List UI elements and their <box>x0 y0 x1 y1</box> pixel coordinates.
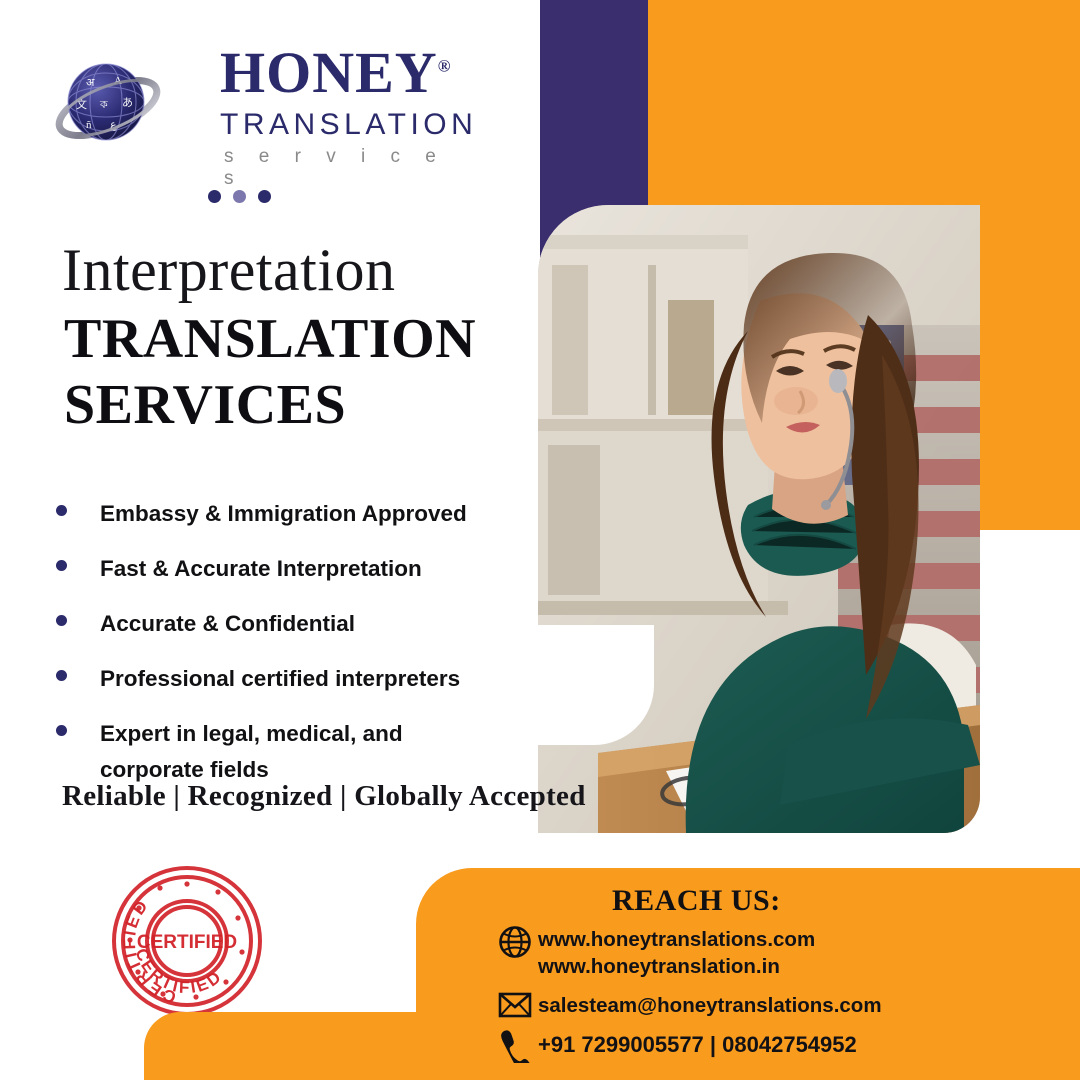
list-item: Accurate & Confidential <box>56 606 526 642</box>
list-item-label: Professional certified interpreters <box>100 661 460 697</box>
svg-text:अ: अ <box>86 77 95 89</box>
logo-name-main: HONEY <box>220 40 438 105</box>
logo-name-third: s e r v i c e s <box>220 146 477 190</box>
reach-panel-extension <box>144 1012 444 1080</box>
contact-row-email: salesteam@honeytranslations.com <box>492 991 1052 1019</box>
headline-main-line-2: SERVICES <box>64 372 476 438</box>
list-item-label: Expert in legal, medical, and corporate … <box>100 716 450 788</box>
bullet-dot-icon <box>56 560 67 571</box>
contact-website-text[interactable]: www.honeytranslations.com www.honeytrans… <box>538 925 815 981</box>
certified-stamp-icon: CERTIFIED CERTIFIED CERTIFIED <box>108 862 266 1020</box>
brand-logo: अ A 文 ক あ ñ ع HONEY® TRANSLATION s e r v… <box>52 44 472 174</box>
list-item: Professional certified interpreters <box>56 661 526 697</box>
photo-notch-cutout <box>538 625 654 745</box>
dot-1 <box>208 190 221 203</box>
tagline: Reliable | Recognized | Globally Accepte… <box>62 780 586 813</box>
dot-3 <box>258 190 271 203</box>
bullet-dot-icon <box>56 670 67 681</box>
list-item: Fast & Accurate Interpretation <box>56 551 526 587</box>
list-item-label: Accurate & Confidential <box>100 606 355 642</box>
list-item: Embassy & Immigration Approved <box>56 496 526 532</box>
decorative-dots <box>208 190 271 203</box>
dot-2 <box>233 190 246 203</box>
phone-icon <box>492 1029 538 1063</box>
website-line-2[interactable]: www.honeytranslation.in <box>538 953 815 980</box>
contact-list: www.honeytranslations.com www.honeytrans… <box>492 925 1052 1073</box>
svg-text:ক: ক <box>99 99 108 111</box>
website-line-1[interactable]: www.honeytranslations.com <box>538 926 815 953</box>
bullet-dot-icon <box>56 505 67 516</box>
feature-list: Embassy & Immigration Approved Fast & Ac… <box>56 496 526 807</box>
logo-name-second: TRANSLATION <box>220 108 477 142</box>
globe-languages-icon: अ A 文 ক あ ñ ع <box>52 56 164 156</box>
stamp-inner-text: CERTIFIED <box>137 932 237 953</box>
envelope-icon <box>492 991 538 1019</box>
contact-phone-text[interactable]: +91 7299005577 | 08042754952 <box>538 1029 857 1059</box>
contact-row-website: www.honeytranslations.com www.honeytrans… <box>492 925 1052 981</box>
headline-main-line-1: TRANSLATION <box>64 306 476 372</box>
reach-us-title: REACH US: <box>612 884 781 918</box>
contact-row-phone: +91 7299005577 | 08042754952 <box>492 1029 1052 1063</box>
bullet-dot-icon <box>56 615 67 626</box>
list-item: Expert in legal, medical, and corporate … <box>56 716 526 788</box>
registered-trademark-icon: ® <box>438 57 452 76</box>
globe-icon <box>492 925 538 959</box>
page-title: TRANSLATION SERVICES <box>64 306 476 438</box>
list-item-label: Fast & Accurate Interpretation <box>100 551 422 587</box>
bullet-dot-icon <box>56 725 67 736</box>
list-item-label: Embassy & Immigration Approved <box>100 496 467 532</box>
svg-text:ñ: ñ <box>86 119 92 131</box>
contact-email-text[interactable]: salesteam@honeytranslations.com <box>538 991 882 1019</box>
headline-script-line: Interpretation <box>62 236 396 305</box>
svg-text:あ: あ <box>122 96 133 109</box>
